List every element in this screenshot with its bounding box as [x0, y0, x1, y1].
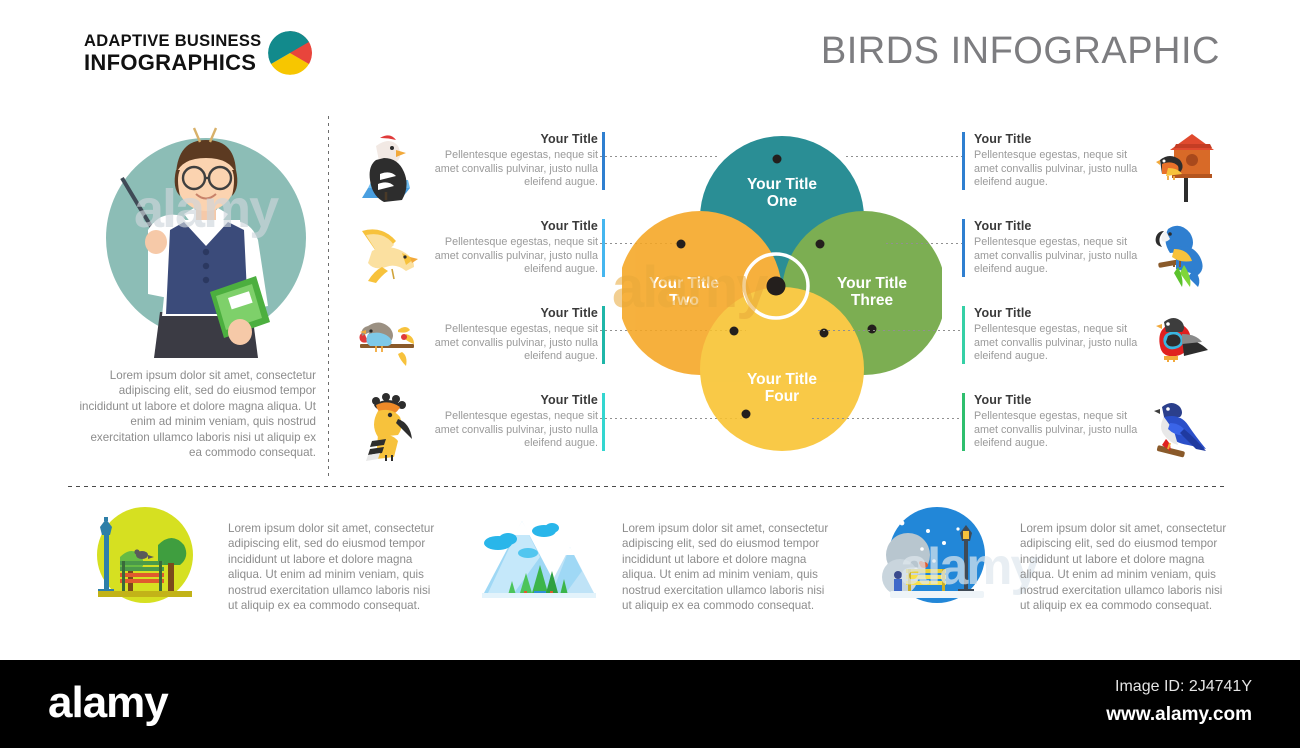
list-item-body: Pellentesque egestas, neque sit amet con…	[426, 323, 598, 364]
list-item-text: Your Title Pellentesque egestas, neque s…	[974, 219, 1146, 277]
venn-diagram[interactable]: Your Title One Your Title Two Your Title…	[622, 126, 942, 456]
park-bench-summer-icon	[80, 505, 210, 605]
teacher-with-pointer-illustration: alamy	[88, 126, 316, 358]
mountains-icon	[474, 505, 604, 605]
list-item-body: Lorem ipsum dolor sit amet, consectetur …	[1020, 521, 1228, 613]
vertical-divider	[328, 116, 329, 476]
accent-bar	[602, 306, 605, 364]
accent-bar	[602, 132, 605, 190]
pie-chart-icon	[268, 31, 312, 75]
hoopoe-bird-icon	[358, 391, 420, 463]
list-item-body: Lorem ipsum dolor sit amet, consectetur …	[228, 521, 436, 613]
condor-bird-icon	[358, 130, 420, 202]
svg-text:Your Title: Your Title	[747, 371, 817, 388]
list-item-title: Your Title	[974, 306, 1146, 320]
svg-text:Four: Four	[765, 388, 799, 405]
list-item-text: Your Title Pellentesque egestas, neque s…	[974, 132, 1146, 190]
list-item-title: Your Title	[426, 393, 598, 407]
list-item-text: Your Title Pellentesque egestas, neque s…	[426, 132, 598, 190]
list-item[interactable]: Your Title Pellentesque egestas, neque s…	[962, 130, 1216, 202]
list-item-text: Your Title Pellentesque egestas, neque s…	[974, 393, 1146, 451]
svg-text:Your Title: Your Title	[649, 275, 719, 292]
robin-on-branch-icon	[358, 304, 420, 376]
list-item[interactable]: Your Title Pellentesque egestas, neque s…	[358, 304, 608, 376]
image-id-label: Image ID: 2J4741Y	[952, 678, 1252, 696]
list-item-text: Your Title Pellentesque egestas, neque s…	[426, 219, 598, 277]
svg-text:Your Title: Your Title	[747, 176, 817, 193]
svg-text:Two: Two	[669, 292, 699, 309]
list-item[interactable]: Your Title Pellentesque egestas, neque s…	[962, 304, 1216, 376]
venn-circle-four	[700, 287, 864, 451]
svg-text:Three: Three	[851, 292, 894, 309]
list-item-text: Your Title Pellentesque egestas, neque s…	[426, 306, 598, 364]
list-item-text: Your Title Pellentesque egestas, neque s…	[426, 393, 598, 451]
blue-swallow-icon	[1154, 391, 1216, 463]
list-item-title: Your Title	[974, 219, 1146, 233]
list-item-body: Pellentesque egestas, neque sit amet con…	[426, 236, 598, 277]
list-item-title: Your Title	[974, 393, 1146, 407]
svg-text:Your Title: Your Title	[837, 275, 907, 292]
connector-line	[846, 156, 962, 157]
accent-bar	[602, 393, 605, 451]
teacher-description: Lorem ipsum dolor sit amet, consectetur …	[76, 368, 316, 460]
alamy-watermark-footer: alamy Image ID: 2J4741Y www.alamy.com	[0, 660, 1300, 748]
list-item[interactable]: Your Title Pellentesque egestas, neque s…	[358, 391, 608, 463]
horizontal-divider	[68, 486, 1228, 487]
birdhouse-icon	[1154, 130, 1216, 202]
list-item[interactable]: Lorem ipsum dolor sit amet, consectetur …	[474, 505, 834, 615]
list-item[interactable]: Your Title Pellentesque egestas, neque s…	[358, 217, 608, 289]
accent-bar	[962, 306, 965, 364]
logo-line-2: INFOGRAPHICS	[84, 52, 261, 74]
connector-line	[812, 418, 962, 419]
red-bird-icon	[1154, 304, 1216, 376]
list-item-body: Pellentesque egestas, neque sit amet con…	[426, 149, 598, 190]
macaw-parrot-icon	[1154, 217, 1216, 289]
connector-line	[886, 243, 962, 244]
list-item-title: Your Title	[426, 306, 598, 320]
list-item-body: Lorem ipsum dolor sit amet, consectetur …	[622, 521, 830, 613]
accent-bar	[962, 132, 965, 190]
list-item[interactable]: Your Title Pellentesque egestas, neque s…	[962, 217, 1216, 289]
list-item[interactable]: alamy Lorem ipsum dolor sit amet, consec…	[872, 505, 1232, 615]
alamy-url-label: www.alamy.com	[952, 704, 1252, 726]
list-item-body: Pellentesque egestas, neque sit amet con…	[426, 410, 598, 451]
list-item-body: Pellentesque egestas, neque sit amet con…	[974, 410, 1146, 451]
brand-logo: ADAPTIVE BUSINESS INFOGRAPHICS	[84, 33, 261, 74]
list-item-body: Pellentesque egestas, neque sit amet con…	[974, 149, 1146, 190]
alamy-logo: alamy	[48, 678, 168, 728]
list-item[interactable]: Your Title Pellentesque egestas, neque s…	[962, 391, 1216, 463]
list-item-title: Your Title	[426, 132, 598, 146]
list-item-title: Your Title	[974, 132, 1146, 146]
page-title: BIRDS INFOGRAPHIC	[821, 30, 1220, 73]
accent-bar	[962, 393, 965, 451]
list-item-body: Pellentesque egestas, neque sit amet con…	[974, 323, 1146, 364]
flying-dove-icon	[358, 217, 420, 289]
list-item-text: Your Title Pellentesque egestas, neque s…	[974, 306, 1146, 364]
list-item[interactable]: Your Title Pellentesque egestas, neque s…	[358, 130, 608, 202]
accent-bar	[962, 219, 965, 277]
infographic-canvas: ADAPTIVE BUSINESS INFOGRAPHICS BIRDS INF…	[0, 0, 1300, 660]
svg-text:One: One	[767, 193, 798, 210]
accent-bar	[602, 219, 605, 277]
list-item-body: Pellentesque egestas, neque sit amet con…	[974, 236, 1146, 277]
winter-night-park-icon: alamy	[872, 505, 1002, 605]
list-item-title: Your Title	[426, 219, 598, 233]
logo-line-1: ADAPTIVE BUSINESS	[84, 33, 261, 50]
list-item[interactable]: Lorem ipsum dolor sit amet, consectetur …	[80, 505, 440, 615]
connector-line	[818, 330, 962, 331]
